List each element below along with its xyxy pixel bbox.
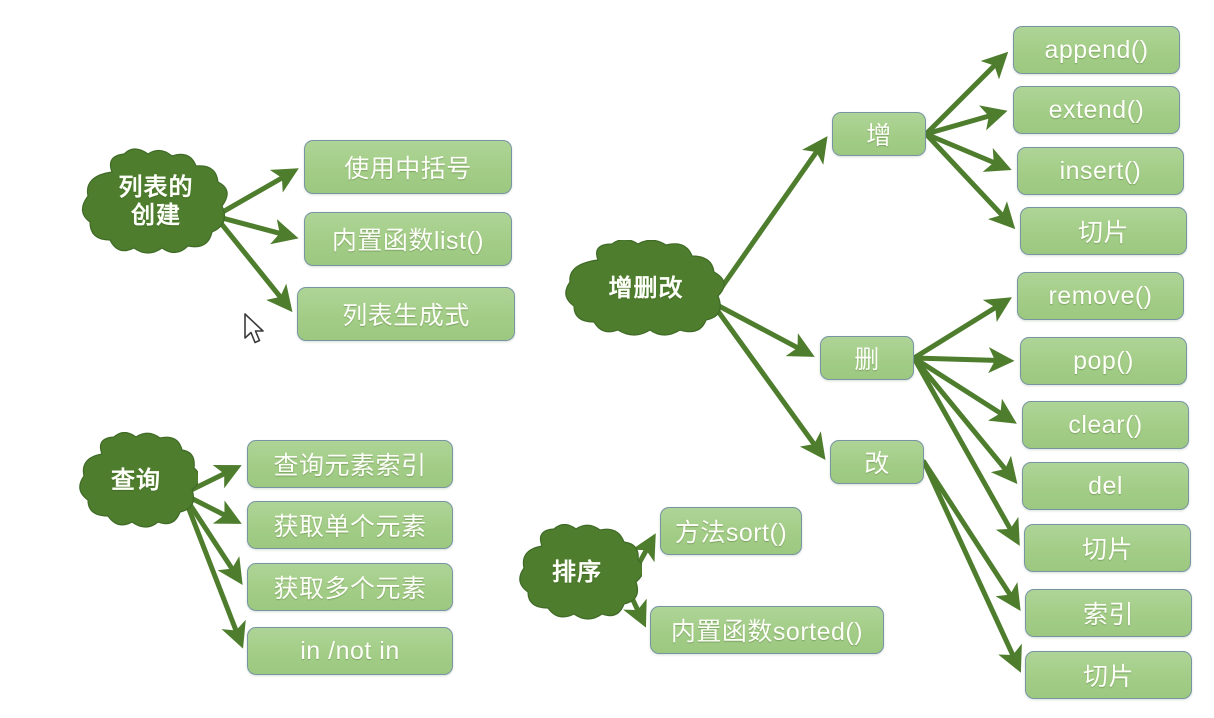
cloud-node-modify[interactable]: 增删改 (560, 240, 732, 340)
node-label-slice3: 切片 (1083, 657, 1134, 693)
node-list-fn[interactable]: 内置函数list() (304, 212, 512, 266)
node-add[interactable]: 增 (832, 112, 926, 156)
node-get-one[interactable]: 获取单个元素 (247, 501, 453, 549)
node-query-index[interactable]: 查询元素索引 (247, 440, 453, 488)
node-remove[interactable]: remove() (1017, 272, 1184, 320)
node-label-comprehension: 列表生成式 (342, 296, 470, 332)
node-label-get-one: 获取单个元素 (273, 507, 426, 543)
node-label-get-many: 获取多个元素 (273, 569, 426, 605)
node-label-del: 删 (854, 340, 880, 376)
node-get-many[interactable]: 获取多个元素 (247, 563, 453, 611)
node-index[interactable]: 索引 (1025, 589, 1192, 637)
node-in-notin[interactable]: in /not in (247, 627, 453, 675)
node-slice3[interactable]: 切片 (1025, 651, 1192, 699)
edge-add-to-extend (926, 113, 1001, 135)
edge-del-to-pop (914, 358, 1008, 361)
edge-add-to-insert (926, 134, 1006, 168)
node-clear[interactable]: clear() (1022, 401, 1189, 449)
node-label-clear: clear() (1068, 411, 1142, 440)
cloud-label-sort: 排序 (552, 559, 602, 589)
node-sort-m[interactable]: 方法sort() (660, 507, 802, 555)
edge-add-to-slice1 (926, 134, 1011, 224)
cloud-node-query[interactable]: 查询 (74, 432, 198, 532)
node-del[interactable]: 删 (820, 336, 914, 380)
edge-chg-to-slice3 (924, 462, 1018, 667)
cloud-label-modify: 增删改 (609, 275, 684, 305)
node-insert[interactable]: insert() (1017, 147, 1184, 195)
node-slice1[interactable]: 切片 (1020, 207, 1187, 255)
node-delkw[interactable]: del (1022, 462, 1189, 510)
mouse-pointer-icon (243, 313, 269, 347)
node-label-brackets: 使用中括号 (344, 149, 472, 185)
edge-del-to-slice2 (914, 358, 1017, 540)
node-label-sorted-f: 内置函数sorted() (671, 612, 863, 648)
node-label-index: 索引 (1083, 595, 1134, 631)
node-chg[interactable]: 改 (830, 440, 924, 484)
node-brackets[interactable]: 使用中括号 (304, 140, 512, 194)
node-label-sort-m: 方法sort() (675, 513, 787, 549)
node-label-append: append() (1044, 36, 1148, 65)
edge-chg-to-index (924, 462, 1017, 606)
cloud-node-sort[interactable]: 排序 (512, 524, 642, 624)
cloud-node-create[interactable]: 列表的 创建 (78, 148, 234, 258)
node-label-remove: remove() (1048, 282, 1152, 311)
node-label-pop: pop() (1073, 347, 1134, 376)
node-sorted-f[interactable]: 内置函数sorted() (650, 606, 884, 654)
node-pop[interactable]: pop() (1020, 337, 1187, 385)
edge-del-to-remove (914, 301, 1006, 358)
edge-add-to-append (926, 56, 1004, 134)
node-append[interactable]: append() (1013, 26, 1180, 74)
edge-del-to-clear (914, 358, 1011, 420)
node-extend[interactable]: extend() (1013, 86, 1180, 134)
cloud-label-create: 列表的 创建 (119, 174, 194, 233)
node-label-chg: 改 (864, 444, 890, 480)
node-comprehension[interactable]: 列表生成式 (297, 287, 515, 341)
node-label-list-fn: 内置函数list() (332, 221, 484, 257)
node-label-slice2: 切片 (1082, 530, 1133, 566)
node-label-in-notin: in /not in (300, 637, 400, 666)
node-label-query-index: 查询元素索引 (273, 446, 426, 482)
mindmap-canvas: 列表的 创建 查询 增删改 排序 使用中括号内置函数list()列表生成式查询元… (0, 0, 1214, 718)
node-slice2[interactable]: 切片 (1024, 524, 1191, 572)
node-label-extend: extend() (1049, 96, 1145, 125)
node-label-delkw: del (1088, 472, 1123, 501)
edge-del-to-delkw (914, 358, 1013, 479)
node-label-slice1: 切片 (1078, 213, 1129, 249)
node-label-insert: insert() (1060, 157, 1142, 186)
cloud-label-query: 查询 (111, 467, 161, 497)
node-label-add: 增 (866, 116, 892, 152)
